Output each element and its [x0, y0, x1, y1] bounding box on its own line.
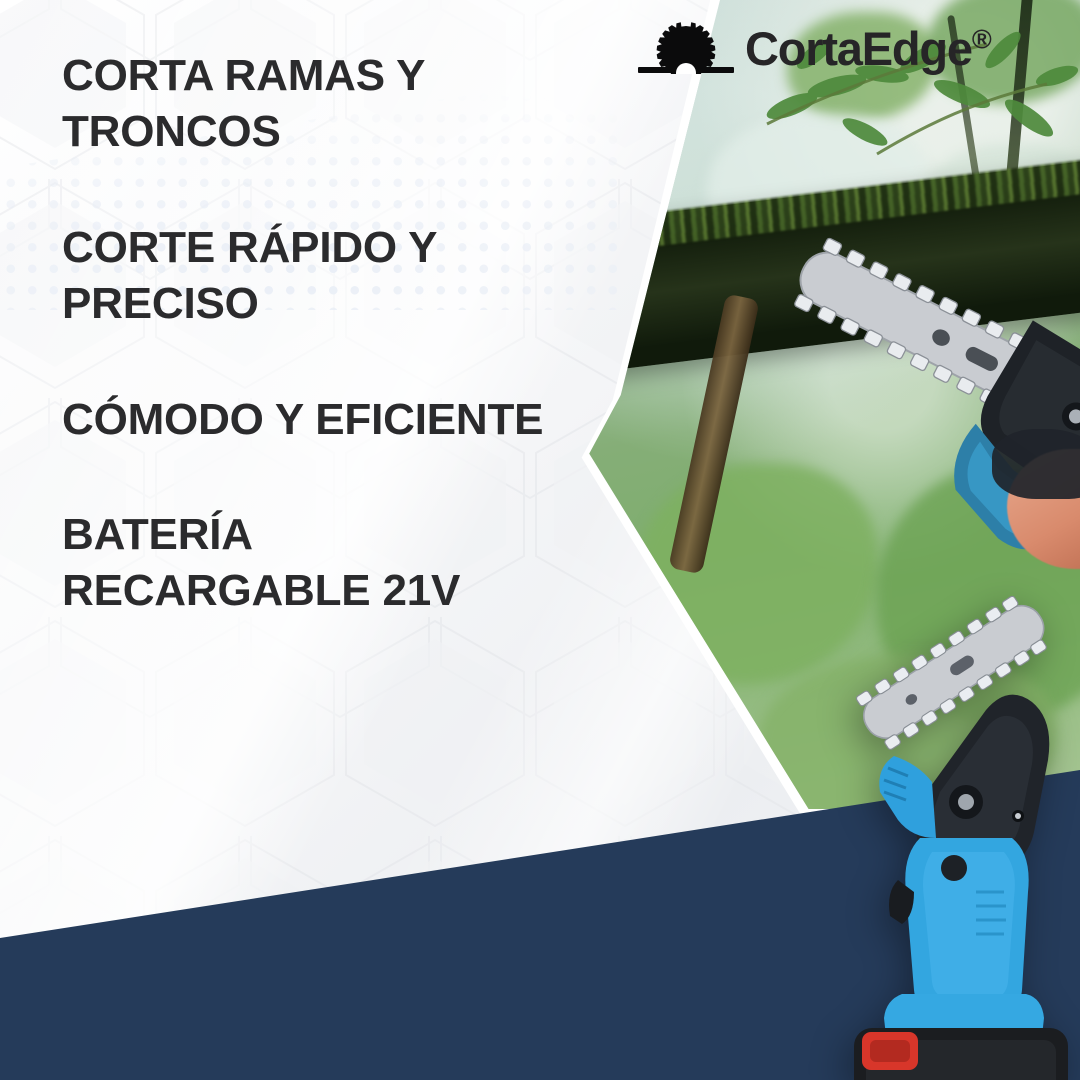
chainsaw-product — [836, 520, 1080, 1080]
brand-name-text: CortaEdge® — [745, 25, 991, 72]
feature-list: CORTA RAMAS Y TRONCOS CORTE RÁPIDO Y PRE… — [62, 48, 562, 619]
feature-bateria: BATERÍA RECARGABLE 21V — [62, 507, 562, 619]
circular-saw-blade-icon — [636, 22, 736, 74]
brand-logo: CortaEdge® — [636, 22, 991, 74]
brand-name: CortaEdge — [745, 22, 972, 75]
hand-grip-shadow — [992, 429, 1080, 499]
feature-corta-ramas: CORTA RAMAS Y TRONCOS — [62, 48, 562, 160]
feature-comodo: CÓMODO Y EFICIENTE — [62, 392, 562, 448]
feature-corte-rapido: CORTE RÁPIDO Y PRECISO — [62, 220, 562, 332]
registered-trademark-symbol: ® — [972, 24, 991, 54]
ad-creative: CortaEdge® CORTA RAMAS Y TRONCOS CORTE R… — [0, 0, 1080, 1080]
